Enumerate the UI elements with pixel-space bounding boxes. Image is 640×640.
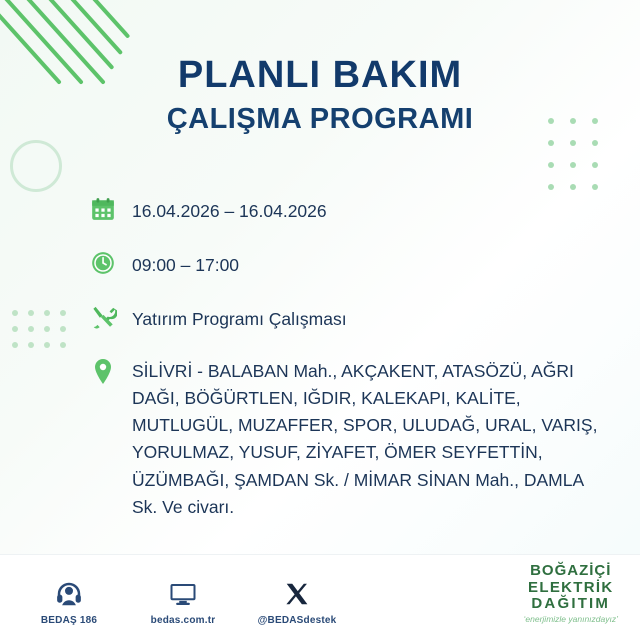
info-row-time: 09:00 – 17:00 <box>86 250 600 280</box>
page-title-line1: PLANLI BAKIM <box>0 56 640 96</box>
page-header: PLANLI BAKIM ÇALIŞMA PROGRAMI <box>0 56 640 137</box>
tools-icon <box>86 304 120 334</box>
footer-contact-items: BEDAŞ 186 bedas.com.tr <box>26 577 340 626</box>
footer-label-website: bedas.com.tr <box>140 615 226 626</box>
headset-support-icon <box>26 577 112 611</box>
info-row-worktype: Yatırım Programı Çalışması <box>86 304 600 334</box>
brand-line2: ELEKTRİK <box>524 580 618 596</box>
info-rows: 16.04.2026 – 16.04.2026 09:00 – 17:00 <box>86 196 600 545</box>
brand-logo: BOĞAZİÇİ ELEKTRİK DAĞITIM ‘enerjimizle y… <box>524 563 618 624</box>
x-twitter-icon <box>254 577 340 611</box>
poster-card: PLANLI BAKIM ÇALIŞMA PROGRAMI 16 <box>0 0 640 640</box>
brand-line3: DAĞITIM <box>524 596 618 612</box>
footer-item-social[interactable]: @BEDASdestek <box>254 577 340 626</box>
info-row-date: 16.04.2026 – 16.04.2026 <box>86 196 600 226</box>
info-row-address: SİLİVRİ - BALABAN Mah., AKÇAKENT, ATASÖZ… <box>86 358 600 521</box>
page-title-line2: ÇALIŞMA PROGRAMI <box>0 102 640 137</box>
location-pin-icon <box>86 358 120 388</box>
footer-item-website[interactable]: bedas.com.tr <box>140 577 226 626</box>
footer-item-call-center[interactable]: BEDAŞ 186 <box>26 577 112 626</box>
time-range-text: 09:00 – 17:00 <box>132 250 239 279</box>
work-type-text: Yatırım Programı Çalışması <box>132 304 347 333</box>
decorative-dotgrid-left <box>12 310 76 358</box>
footer-label-social: @BEDASdestek <box>254 615 340 626</box>
address-text: SİLİVRİ - BALABAN Mah., AKÇAKENT, ATASÖZ… <box>132 358 600 521</box>
decorative-circle <box>10 140 62 192</box>
clock-icon <box>86 250 120 280</box>
calendar-icon <box>86 196 120 226</box>
footer-label-call-center: BEDAŞ 186 <box>26 615 112 626</box>
brand-slogan: ‘enerjimizle yanınızdayız’ <box>524 614 618 624</box>
brand-line1: BOĞAZİÇİ <box>524 563 618 579</box>
footer: BEDAŞ 186 bedas.com.tr <box>0 554 640 640</box>
date-range-text: 16.04.2026 – 16.04.2026 <box>132 196 327 225</box>
monitor-icon <box>140 577 226 611</box>
